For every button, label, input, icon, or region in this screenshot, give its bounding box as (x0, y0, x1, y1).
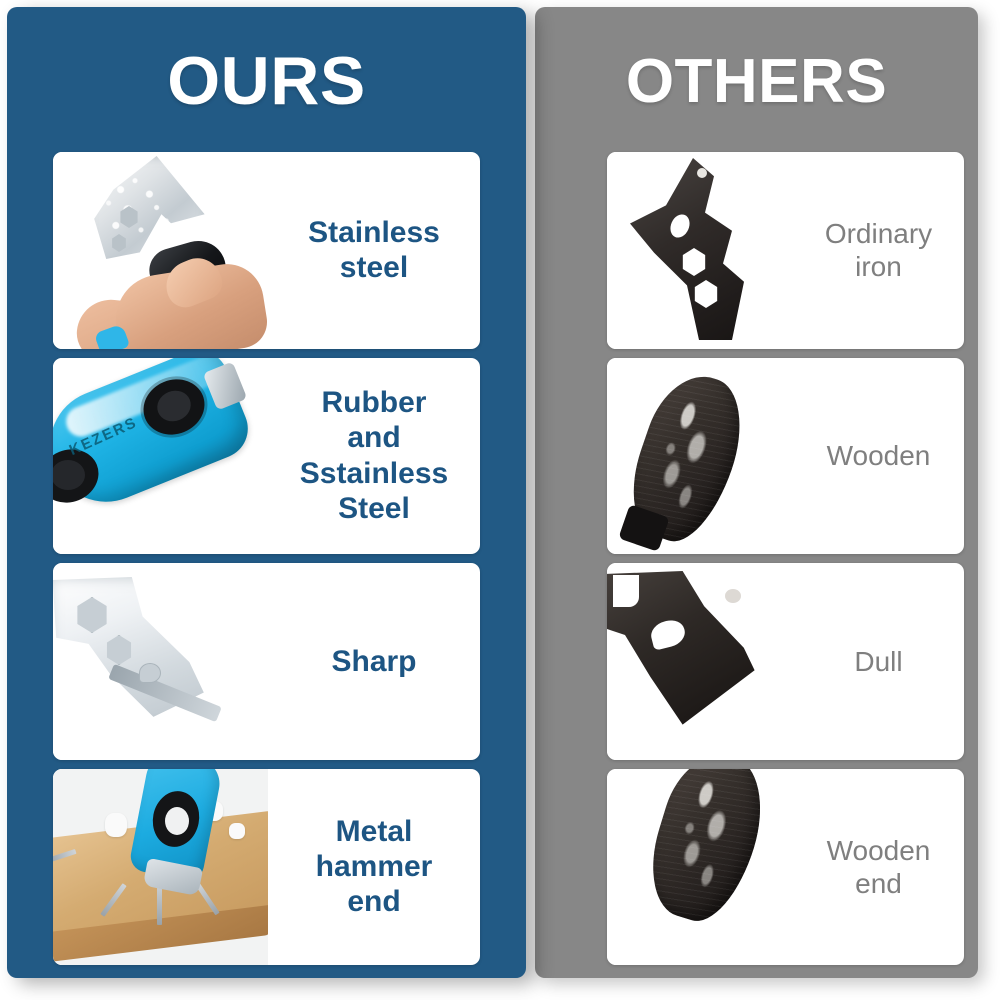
others-row-dull: Dull (607, 563, 964, 760)
others-row-2-image (607, 358, 793, 555)
ours-panel-title: OURS (7, 47, 526, 115)
worn-wooden-handle-end (637, 769, 778, 931)
debris (105, 813, 127, 837)
ours-card-list: Stainless steel KEZERS Rubb (53, 152, 480, 965)
others-row-ordinary-iron: Ordinary iron (607, 152, 964, 349)
wooden-handle-illustration (607, 358, 793, 555)
debris (229, 823, 245, 839)
others-row-1-label: Ordinary iron (793, 152, 964, 349)
ours-row-3-label: Sharp (268, 563, 480, 760)
others-row-2-label: Wooden (793, 358, 964, 555)
hammering-nails-illustration (53, 769, 268, 966)
blade-notch (613, 575, 639, 607)
comparison-infographic: OURS Stainless steel (0, 0, 1000, 1000)
ours-row-4-label: Metal hammer end (268, 769, 480, 966)
others-panel: OTHERS Ordinary iron (535, 7, 978, 978)
others-panel-title: OTHERS (535, 51, 978, 113)
others-card-list: Ordinary iron Wooden (607, 152, 964, 965)
blade-teardrop-cutout (139, 663, 161, 683)
ours-row-1-label: Stainless steel (268, 152, 480, 349)
ours-panel: OURS Stainless steel (7, 7, 526, 978)
blade-glint (725, 589, 741, 603)
ours-row-metal-hammer-end: Metal hammer end (53, 769, 480, 966)
ours-row-rubber-and-stainless-steel: KEZERS Rubber and Sstainless Steel (53, 358, 480, 555)
others-row-wooden: Wooden (607, 358, 964, 555)
ours-row-1-image (53, 152, 268, 349)
ours-row-3-image (53, 563, 268, 760)
others-row-3-image (607, 563, 793, 760)
ours-row-2-label: Rubber and Sstainless Steel (268, 358, 480, 555)
wooden-end-illustration (607, 769, 793, 966)
sharp-blade-illustration (53, 563, 268, 760)
dark-iron-blade-body (627, 158, 777, 340)
ordinary-iron-scraper-illustration (607, 152, 793, 349)
others-row-4-label: Wooden end (793, 769, 964, 966)
others-row-4-image (607, 769, 793, 966)
handle-end-cap-inner (53, 460, 85, 490)
ours-row-stainless-steel: Stainless steel (53, 152, 480, 349)
tool-hang-hole-inner (165, 807, 189, 835)
blade-glint (697, 168, 707, 178)
stainless-steel-scraper-illustration (53, 152, 268, 349)
ours-row-2-image: KEZERS (53, 358, 268, 555)
others-row-wooden-end: Wooden end (607, 769, 964, 966)
others-row-3-label: Dull (793, 563, 964, 760)
dull-blade-illustration (607, 563, 793, 760)
others-row-1-image (607, 152, 793, 349)
ours-row-sharp: Sharp (53, 563, 480, 760)
ours-row-4-image (53, 769, 268, 966)
cyan-rubber-handle-illustration: KEZERS (53, 358, 268, 555)
